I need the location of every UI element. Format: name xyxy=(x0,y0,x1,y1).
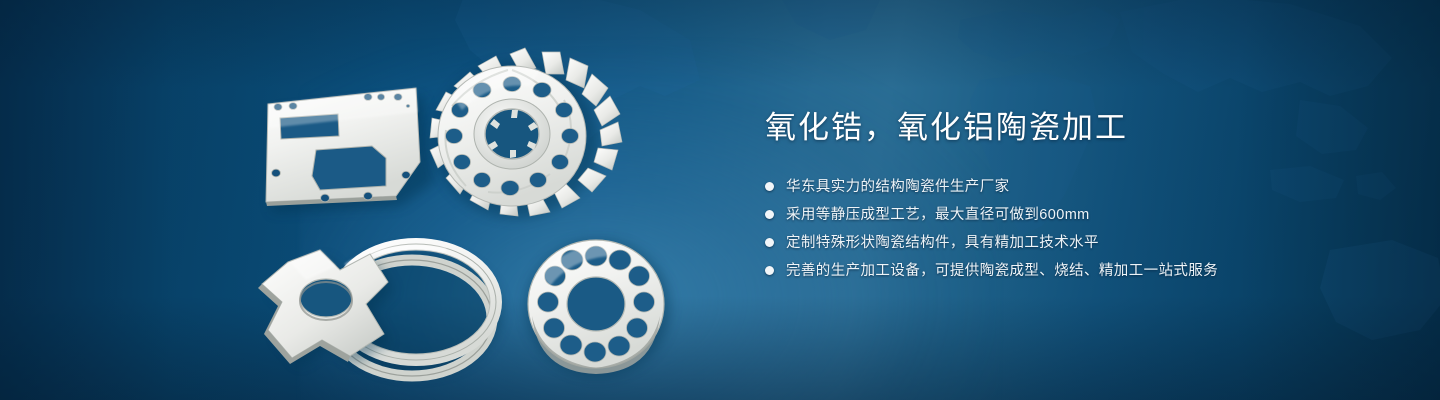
feature-text: 完善的生产加工设备，可提供陶瓷成型、烧结、精加工一站式服务 xyxy=(786,261,1218,281)
banner-headline: 氧化锆，氧化铝陶瓷加工 xyxy=(765,108,1385,148)
list-item: 完善的生产加工设备，可提供陶瓷成型、烧结、精加工一站式服务 xyxy=(765,258,1385,283)
banner-copy: 氧化锆，氧化铝陶瓷加工 华东具实力的结构陶瓷件生产厂家 采用等静压成型工艺，最大… xyxy=(765,108,1385,286)
feature-text: 华东具实力的结构陶瓷件生产厂家 xyxy=(786,177,1010,197)
list-item: 华东具实力的结构陶瓷件生产厂家 xyxy=(765,174,1385,199)
ceramic-perforated-disc xyxy=(526,240,670,376)
feature-text: 定制特殊形状陶瓷结构件，具有精加工技术水平 xyxy=(786,233,1099,253)
list-item: 采用等静压成型工艺，最大直径可做到600mm xyxy=(765,202,1385,227)
ceramic-cut-plate xyxy=(266,88,434,212)
feature-list: 华东具实力的结构陶瓷件生产厂家 采用等静压成型工艺，最大直径可做到600mm 定… xyxy=(765,174,1385,283)
list-item: 定制特殊形状陶瓷结构件，具有精加工技术水平 xyxy=(765,230,1385,255)
feature-text: 采用等静压成型工艺，最大直径可做到600mm xyxy=(786,205,1090,225)
ceramic-parts-photo-group xyxy=(220,40,740,380)
ceramic-cross-part xyxy=(258,250,394,366)
bullet-dot-icon xyxy=(765,182,774,191)
bullet-dot-icon xyxy=(765,266,774,275)
bullet-dot-icon xyxy=(765,238,774,247)
ceramic-impeller-disc xyxy=(430,48,622,218)
ceramic-product-banner: 氧化锆，氧化铝陶瓷加工 华东具实力的结构陶瓷件生产厂家 采用等静压成型工艺，最大… xyxy=(0,0,1440,400)
bullet-dot-icon xyxy=(765,210,774,219)
